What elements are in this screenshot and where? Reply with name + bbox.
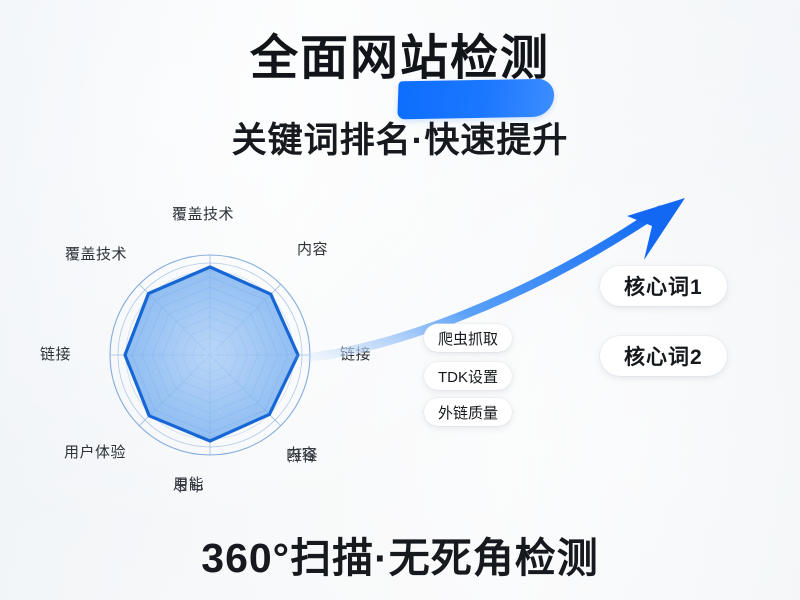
page-title-text: 全面网站检测 <box>250 32 550 85</box>
radar-axis-label-left: 链接 <box>40 343 71 364</box>
radar-axis-label-top: 覆盖技术 <box>172 203 234 224</box>
title-highlight-stroke <box>397 79 554 120</box>
tag-tdk-label: TDK设置 <box>438 366 498 387</box>
tag-backlink[interactable]: 外链质量 <box>424 398 512 426</box>
tag-backlink-label: 外链质量 <box>438 402 498 423</box>
radar-axis-label-top-left: 覆盖技术 <box>65 243 127 264</box>
garbled-glyph-pair: 内容链接 <box>286 443 317 464</box>
garbled-glyph-overlay: 链接 <box>287 445 318 466</box>
garbled-glyph-pair-2: 用能名户 <box>173 473 204 494</box>
tag-crawl-label: 爬虫抓取 <box>438 328 498 349</box>
radar-axis-label-bottom-right: 内容链接 <box>286 443 317 464</box>
radar-axis-label-bottom-left: 用户体验 <box>64 441 126 462</box>
page-subtitle: 关键词排名·快速提升 <box>0 112 800 163</box>
title-block: 全面网站检测 <box>0 34 800 84</box>
tag-tdk[interactable]: TDK设置 <box>424 362 512 390</box>
radar-axis-label-bottom: 用能名户 <box>173 473 204 494</box>
tag-keyword-1-label: 核心词1 <box>624 271 703 301</box>
footer-tagline: 360°扫描·无死角检测 <box>0 524 800 584</box>
tag-keyword-1[interactable]: 核心词1 <box>600 266 727 306</box>
page-title: 全面网站检测 <box>250 34 550 84</box>
tag-keyword-2-label: 核心词2 <box>624 341 703 371</box>
garbled-glyph-overlay-2: 名户 <box>174 475 205 496</box>
tag-crawl[interactable]: 爬虫抓取 <box>424 324 512 352</box>
tag-keyword-2[interactable]: 核心词2 <box>600 336 727 376</box>
